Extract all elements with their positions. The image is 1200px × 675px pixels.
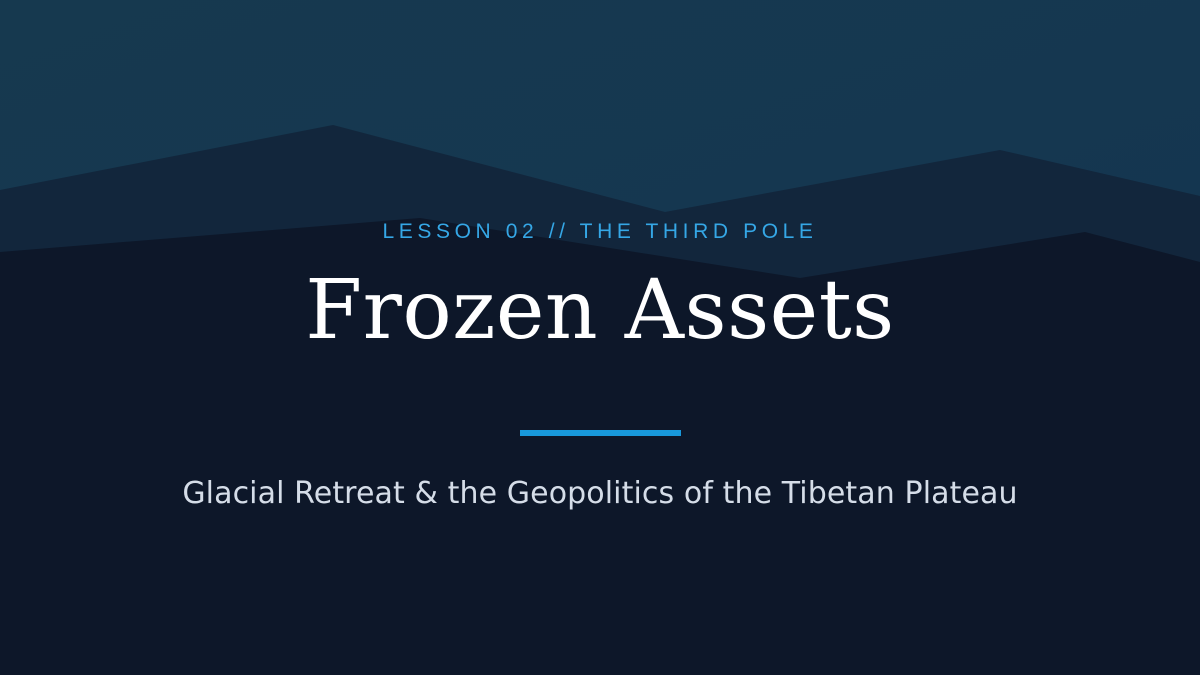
accent-rule: [520, 430, 681, 436]
title-slide: LESSON 02 // THE THIRD POLE Frozen Asset…: [0, 0, 1200, 675]
page-title: Frozen Assets: [305, 265, 895, 357]
slide-subtitle: Glacial Retreat & the Geopolitics of the…: [182, 474, 1017, 514]
slide-content: LESSON 02 // THE THIRD POLE Frozen Asset…: [0, 0, 1200, 675]
lesson-eyebrow: LESSON 02 // THE THIRD POLE: [382, 219, 817, 245]
